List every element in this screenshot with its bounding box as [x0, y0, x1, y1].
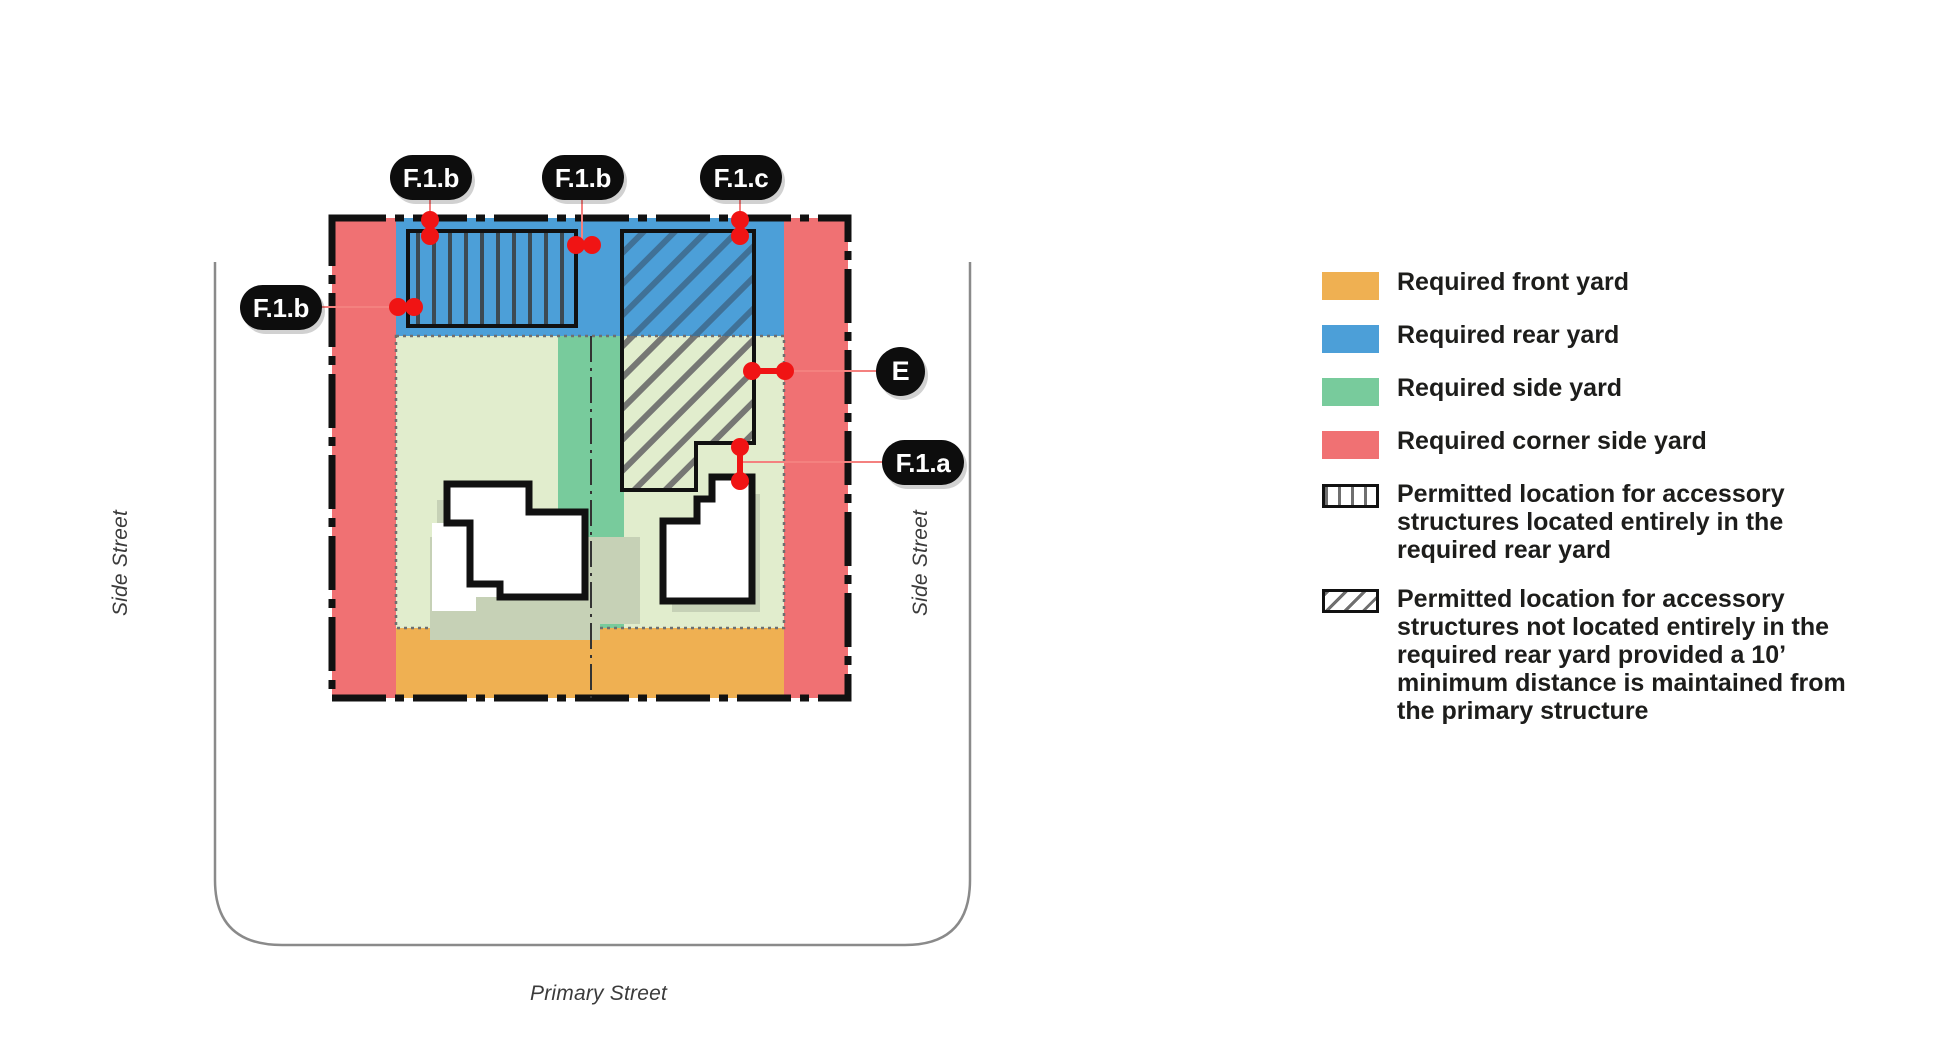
- lot-diagram-svg: [0, 0, 1290, 1051]
- legend-swatch-front-yard: [1322, 272, 1379, 300]
- street-label-bottom: Primary Street: [530, 982, 667, 1006]
- street-label-left: Side Street: [109, 463, 133, 663]
- callout-f1a-right[interactable]: F.1.a: [882, 440, 964, 485]
- legend-item-accessory-mixed: Permitted location for accessory structu…: [1322, 585, 1922, 725]
- legend-label-accessory-rear-only: Permitted location for accessory structu…: [1397, 480, 1877, 564]
- callout-f1b-left[interactable]: F.1.b: [240, 285, 322, 330]
- required-corner-side-yard-right: [784, 218, 848, 698]
- legend-item-accessory-rear-only: Permitted location for accessory structu…: [1322, 480, 1922, 564]
- legend-label-side-yard: Required side yard: [1397, 374, 1622, 402]
- callout-f1b-top-mid[interactable]: F.1.b: [542, 155, 624, 200]
- callout-f1b-top-left[interactable]: F.1.b: [390, 155, 472, 200]
- legend-label-accessory-mixed: Permitted location for accessory structu…: [1397, 585, 1877, 725]
- required-corner-side-yard-left: [332, 218, 396, 698]
- legend-item-side-yard: Required side yard: [1322, 374, 1922, 406]
- legend-label-rear-yard: Required rear yard: [1397, 321, 1619, 349]
- legend: Required front yard Required rear yard R…: [1322, 268, 1922, 725]
- legend-label-front-yard: Required front yard: [1397, 268, 1629, 296]
- lot-diagram: Side Street Side Street Primary Street F…: [0, 0, 1290, 1051]
- legend-swatch-rear-yard: [1322, 325, 1379, 353]
- legend-label-corner-side-yard: Required corner side yard: [1397, 427, 1707, 455]
- callout-e-right[interactable]: E: [876, 347, 925, 396]
- callout-f1c-top-right[interactable]: F.1.c: [700, 155, 782, 200]
- accessory-zone-rear-yard-only: [408, 231, 576, 326]
- legend-item-corner-side-yard: Required corner side yard: [1322, 427, 1922, 459]
- legend-swatch-side-yard: [1322, 378, 1379, 406]
- legend-swatch-diagonal-hatch: [1322, 589, 1379, 613]
- legend-item-front-yard: Required front yard: [1322, 268, 1922, 300]
- legend-swatch-corner-side-yard: [1322, 431, 1379, 459]
- legend-item-rear-yard: Required rear yard: [1322, 321, 1922, 353]
- legend-swatch-vertical-hatch: [1322, 484, 1379, 508]
- zoning-diagram-page: Side Street Side Street Primary Street F…: [0, 0, 1950, 1051]
- street-label-right: Side Street: [909, 463, 933, 663]
